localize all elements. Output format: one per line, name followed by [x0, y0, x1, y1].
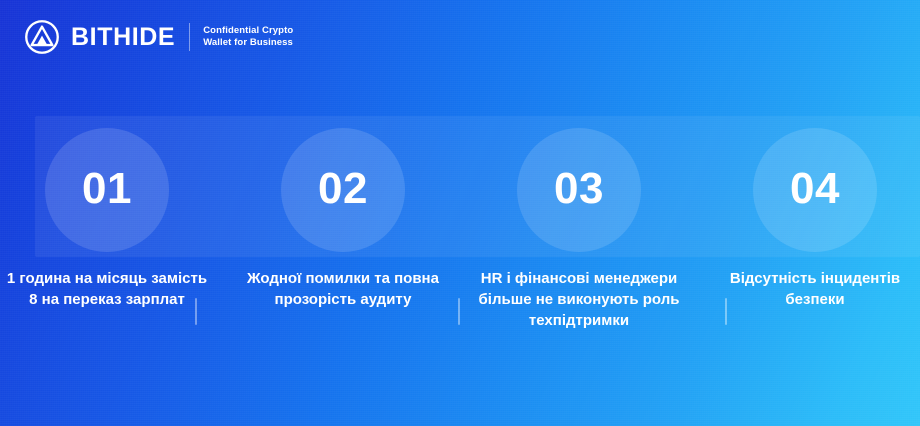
brand-tagline-line2: Wallet for Business: [203, 37, 293, 49]
step-caption-02: Жодної помилки та повна прозорість аудит…: [239, 268, 447, 310]
circle-triangle-logo-icon: [24, 19, 60, 55]
caption-divider-2: [458, 298, 460, 325]
step-circle-04: 04: [753, 128, 877, 252]
step-circle-02: 02: [281, 128, 405, 252]
banner-root: BITHIDE Confidential Crypto Wallet for B…: [0, 0, 920, 426]
step-number: 04: [790, 167, 840, 211]
caption-divider-1: [195, 298, 197, 325]
step-caption-01: 1 година на місяць замість 8 на переказ …: [3, 268, 211, 310]
step-caption-03: HR і фінансові менеджери більше не викон…: [475, 268, 683, 331]
step-circle-01: 01: [45, 128, 169, 252]
step-number: 01: [82, 167, 132, 211]
caption-divider-3: [725, 298, 727, 325]
brand-logo[interactable]: BITHIDE Confidential Crypto Wallet for B…: [24, 17, 293, 57]
brand-tagline-line1: Confidential Crypto: [203, 25, 293, 37]
step-circle-03: 03: [517, 128, 641, 252]
brand-tagline: Confidential Crypto Wallet for Business: [203, 25, 293, 49]
logo-separator: [189, 23, 190, 51]
brand-name: BITHIDE: [71, 25, 175, 50]
step-number: 03: [554, 167, 604, 211]
step-number: 02: [318, 167, 368, 211]
step-caption-04: Відсутність інцидентів безпеки: [711, 268, 919, 310]
